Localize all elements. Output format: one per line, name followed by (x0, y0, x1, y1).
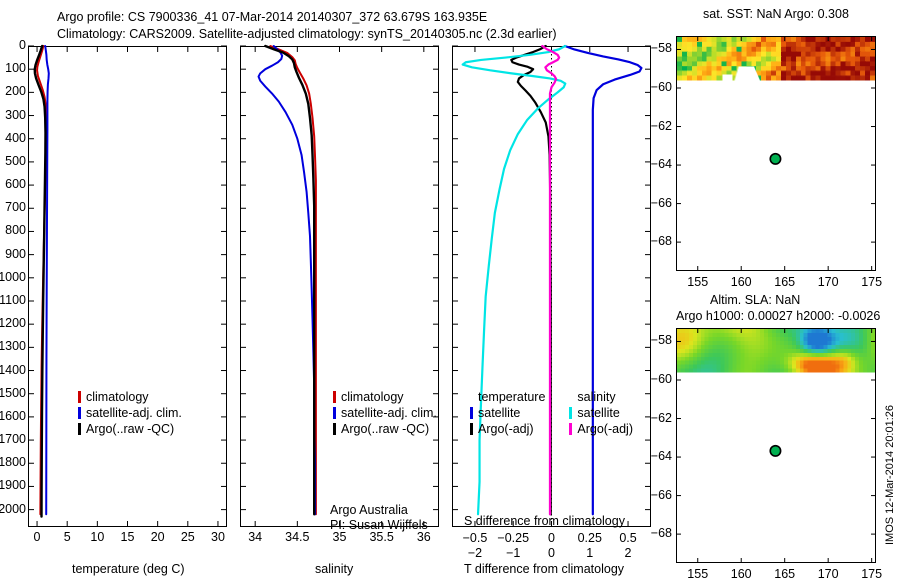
legend-item: Argo(..raw -QC) (333, 421, 437, 437)
depth-tick-1100: 1100 (0, 293, 26, 307)
sla-lon-tick: 165 (767, 567, 803, 581)
depth-tick-2000: 2000 (0, 502, 26, 516)
depth-tick-800: 800 (0, 223, 26, 237)
depth-tick-1900: 1900 (0, 478, 26, 492)
depth-tick-400: 400 (0, 131, 26, 145)
sst-lon-tick: 175 (854, 275, 890, 289)
t-difference-axis-label: T difference from climatology (464, 562, 624, 576)
depth-tick-600: 600 (0, 177, 26, 191)
legend-item: Argo(..raw -QC) (78, 421, 182, 437)
legend-item: satellite (569, 405, 633, 421)
legend-swatch (78, 423, 81, 435)
sla-map-title-line2: Argo h1000: 0.00027 h2000: -0.0026 (676, 309, 880, 323)
legend-label: satellite (577, 406, 619, 420)
sla-lat-tick: −62 (634, 411, 672, 425)
legend-swatch (78, 391, 81, 403)
depth-tick-0: 0 (0, 38, 26, 52)
salinity-legend: climatologysatellite-adj. clim.Argo(..ra… (333, 389, 437, 437)
depth-tick-1000: 1000 (0, 270, 26, 284)
sla-map-title-line1: Altim. SLA: NaN (710, 293, 800, 307)
sla-lon-tick: 160 (723, 567, 759, 581)
sst-lat-tick: −62 (634, 119, 672, 133)
legend-label: Argo(..raw -QC) (86, 422, 174, 436)
legend-swatch (333, 391, 336, 403)
t-diff-tick-1: 1 (574, 546, 606, 560)
legend-group: temperaturesatelliteArgo(-adj) (470, 389, 545, 437)
sst-profile-marker (770, 154, 780, 164)
imos-timestamp: IMOS 12-Mar-2014 20:01:26 (884, 405, 896, 545)
legend-label: satellite-adj. clim. (86, 406, 182, 420)
sla-lon-tick: 155 (680, 567, 716, 581)
sst-lat-tick: −66 (634, 196, 672, 210)
salinity-axis-label: salinity (315, 562, 353, 576)
sst-map-overlay (676, 36, 876, 271)
legend-swatch (333, 407, 336, 419)
legend-label: climatology (341, 390, 404, 404)
sst-lon-tick: 170 (810, 275, 846, 289)
t-diff-tick--2: −2 (459, 546, 491, 560)
sst-lon-tick: 165 (767, 275, 803, 289)
depth-tick-1400: 1400 (0, 363, 26, 377)
t-diff-tick--1: −1 (497, 546, 529, 560)
depth-tick-200: 200 (0, 84, 26, 98)
salinity-tick-36: 36 (404, 530, 444, 544)
legend-group: salinitysatelliteArgo(-adj) (569, 389, 633, 437)
t-diff-tick-0: 0 (536, 546, 568, 560)
temperature-tick-25: 25 (176, 530, 200, 544)
legend-label: Argo(-adj) (577, 422, 633, 436)
depth-tick-300: 300 (0, 108, 26, 122)
figure-title-line2: Climatology: CARS2009. Satellite-adjuste… (57, 27, 557, 41)
sst-lat-tick: −60 (634, 80, 672, 94)
sla-lon-tick: 175 (854, 567, 890, 581)
legend-group-header: temperature (470, 389, 545, 405)
legend-swatch (569, 423, 572, 435)
sla-lat-tick: −64 (634, 449, 672, 463)
temperature-axis-label: temperature (deg C) (72, 562, 185, 576)
legend-item: satellite-adj. clim. (78, 405, 182, 421)
credit-pi: PI: Susan Wijffels (330, 518, 428, 532)
legend-swatch (333, 423, 336, 435)
legend-group-header: salinity (569, 389, 633, 405)
difference-legend: temperaturesatelliteArgo(-adj)salinitysa… (470, 389, 633, 437)
depth-tick-1500: 1500 (0, 386, 26, 400)
legend-label: climatology (86, 390, 149, 404)
temperature-tick-20: 20 (146, 530, 170, 544)
salinity-tick-34.5: 34.5 (277, 530, 317, 544)
depth-tick-700: 700 (0, 200, 26, 214)
salinity-tick-34: 34 (235, 530, 275, 544)
sst-lat-tick: −68 (634, 234, 672, 248)
temperature-tick-0: 0 (25, 530, 49, 544)
depth-tick-1600: 1600 (0, 409, 26, 423)
legend-item: satellite (470, 405, 545, 421)
sst-lat-tick: −58 (634, 41, 672, 55)
depth-tick-100: 100 (0, 61, 26, 75)
legend-swatch (569, 407, 572, 419)
legend-item: Argo(-adj) (470, 421, 545, 437)
s-difference-axis-label: S difference from climatology (464, 514, 625, 528)
sla-lat-tick: −58 (634, 333, 672, 347)
sst-lon-tick: 160 (723, 275, 759, 289)
sla-profile-marker (770, 446, 780, 456)
temperature-tick-15: 15 (116, 530, 140, 544)
legend-item: satellite-adj. clim. (333, 405, 437, 421)
salinity-plot-canvas (240, 46, 439, 527)
legend-label: Argo(..raw -QC) (341, 422, 429, 436)
legend-label: satellite-adj. clim. (341, 406, 437, 420)
salinity-tick-35: 35 (320, 530, 360, 544)
depth-tick-500: 500 (0, 154, 26, 168)
t-diff-tick-2: 2 (612, 546, 644, 560)
temperature-legend: climatologysatellite-adj. clim.Argo(..ra… (78, 389, 182, 437)
sla-lon-tick: 170 (810, 567, 846, 581)
temperature-plot-canvas (28, 46, 227, 527)
difference-plot-canvas (452, 46, 651, 527)
legend-item: Argo(-adj) (569, 421, 633, 437)
legend-swatch (470, 423, 473, 435)
legend-label: satellite (478, 406, 520, 420)
legend-swatch (78, 407, 81, 419)
temperature-tick-30: 30 (206, 530, 230, 544)
credit-argo-australia: Argo Australia (330, 503, 408, 517)
figure-title-line1: Argo profile: CS 7900336_41 07-Mar-2014 … (57, 10, 487, 24)
depth-tick-1800: 1800 (0, 455, 26, 469)
legend-item: climatology (333, 389, 437, 405)
temperature-tick-10: 10 (85, 530, 109, 544)
sst-map-title: sat. SST: NaN Argo: 0.308 (703, 7, 849, 21)
sla-lat-tick: −66 (634, 488, 672, 502)
sla-map-overlay (676, 328, 876, 563)
depth-tick-1200: 1200 (0, 316, 26, 330)
depth-tick-1700: 1700 (0, 432, 26, 446)
temperature-tick-5: 5 (55, 530, 79, 544)
legend-label: Argo(-adj) (478, 422, 534, 436)
sla-lat-tick: −68 (634, 526, 672, 540)
sst-lat-tick: −64 (634, 157, 672, 171)
sla-lat-tick: −60 (634, 372, 672, 386)
depth-tick-900: 900 (0, 247, 26, 261)
legend-swatch (470, 407, 473, 419)
legend-item: climatology (78, 389, 182, 405)
depth-tick-1300: 1300 (0, 339, 26, 353)
salinity-tick-35.5: 35.5 (362, 530, 402, 544)
sst-lon-tick: 155 (680, 275, 716, 289)
